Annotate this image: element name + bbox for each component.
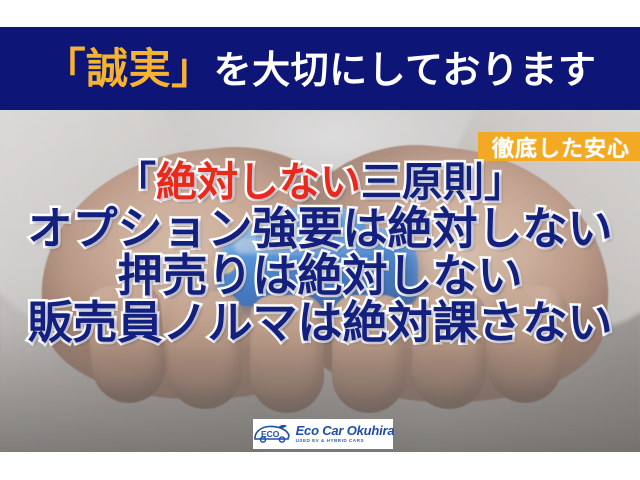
- headline-rest: を大切にしております: [214, 50, 597, 92]
- status-badge: 徹底した安心: [478, 132, 640, 161]
- top-margin: [0, 0, 640, 27]
- logo-name: Eco Car Okuhira: [296, 424, 395, 437]
- brand-logo: ECO Eco Car Okuhira USED EV & HYBRID CAR…: [253, 419, 393, 449]
- headline-emphasis: 「誠実」: [44, 45, 214, 92]
- car-silhouette-icon: ECO: [252, 423, 292, 445]
- list-item: 販売員ノルマは絶対課さない: [0, 300, 640, 346]
- advertisement-banner: 「誠実」を大切にしております 徹底した安心 「絶対しない三原則」 オプション強要…: [0, 0, 640, 480]
- pledge-heading-emphasis: 絶対しない: [156, 159, 361, 205]
- headline-text: 「誠実」を大切にしております: [44, 48, 597, 90]
- logo-wordmark: Eco Car Okuhira USED EV & HYBRID CARS: [296, 424, 395, 444]
- list-item: 押売りは絶対しない: [0, 253, 640, 299]
- pledge-heading: 「絶対しない三原則」: [0, 162, 640, 204]
- badge-label: 徹底した安心: [492, 131, 630, 163]
- logo-tagline: USED EV & HYBRID CARS: [296, 439, 364, 444]
- svg-text:ECO: ECO: [261, 429, 280, 439]
- pledge-heading-open: 「: [115, 159, 156, 205]
- bottom-margin: [0, 452, 640, 480]
- headline-banner: 「誠実」を大切にしております: [0, 27, 640, 110]
- pledge-list: 「絶対しない三原則」 オプション強要は絶対しない 押売りは絶対しない 販売員ノル…: [0, 162, 640, 345]
- list-item: オプション強要は絶対しない: [0, 206, 640, 252]
- pledge-heading-tail: 三原則」: [361, 159, 525, 205]
